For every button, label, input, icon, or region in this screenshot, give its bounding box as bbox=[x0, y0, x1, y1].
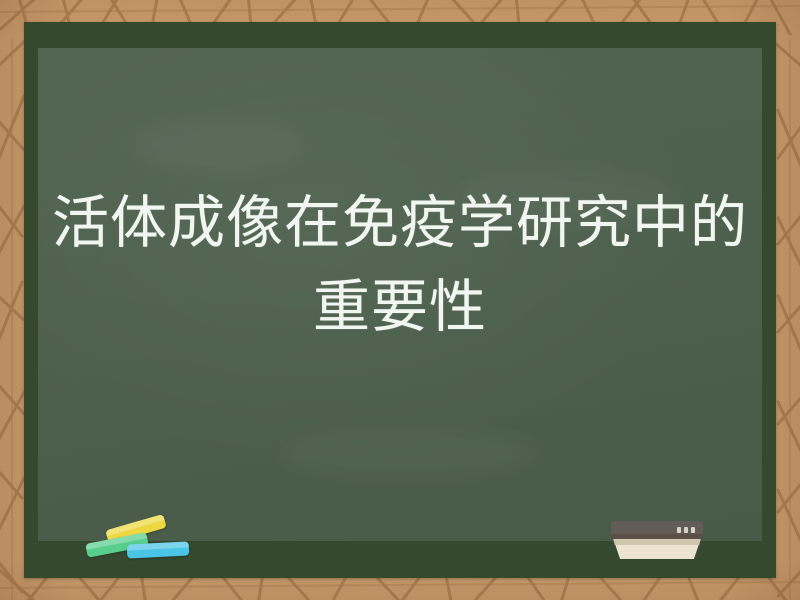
eraser-handle-shadow bbox=[611, 534, 703, 539]
eraser-dot-icon bbox=[684, 527, 688, 533]
title-line-2: 重要性 bbox=[313, 265, 487, 349]
eraser-dot-icon bbox=[691, 527, 695, 533]
slide-title: 活体成像在免疫学研究中的 重要性 bbox=[38, 48, 762, 541]
blackboard-frame: 活体成像在免疫学研究中的 重要性 bbox=[24, 22, 776, 578]
blackboard-eraser[interactable] bbox=[611, 521, 703, 559]
title-line-1: 活体成像在免疫学研究中的 bbox=[52, 181, 748, 265]
eraser-felt-edge bbox=[613, 538, 701, 545]
eraser-dot-icon bbox=[677, 527, 681, 533]
chalkboard-slide: 活体成像在免疫学研究中的 重要性 bbox=[0, 0, 800, 600]
